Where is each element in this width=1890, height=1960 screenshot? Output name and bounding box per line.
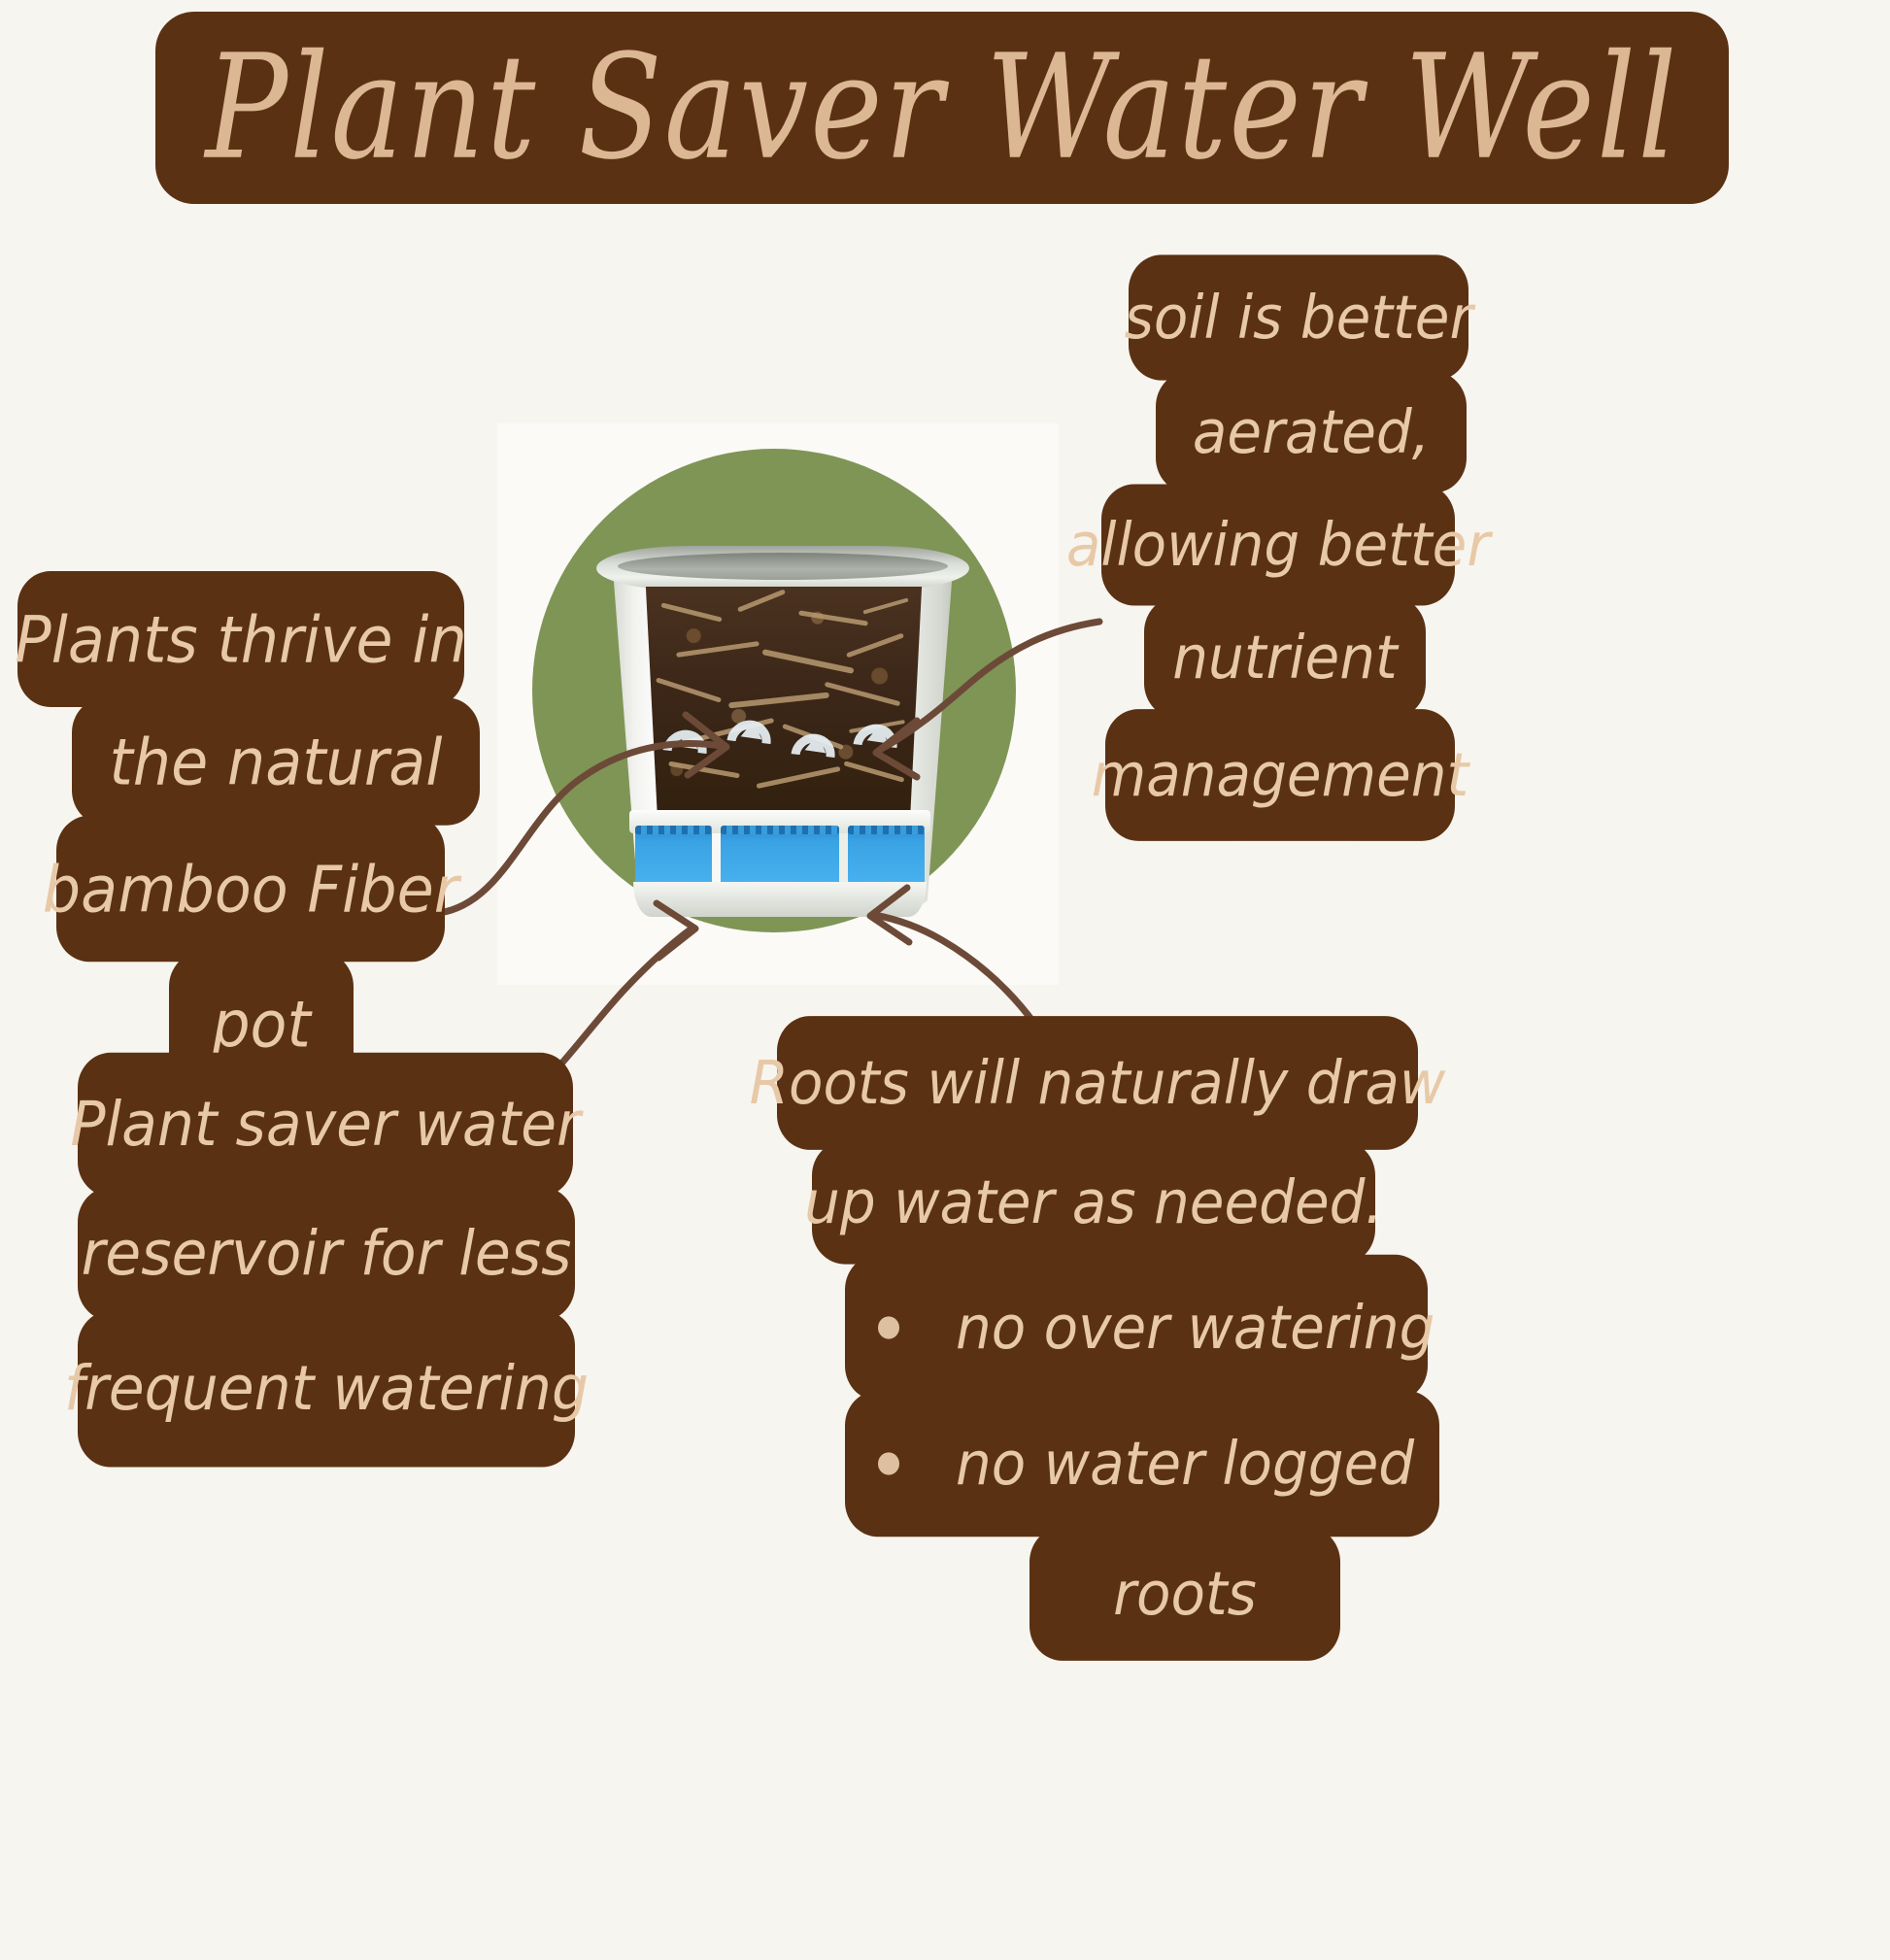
callout-line: the natural [72,697,480,825]
water-cell [635,829,712,886]
soil-aeration-callout: soil is better aerated, allowing better … [1096,258,1468,837]
callout-line: reservoir for less [78,1187,575,1321]
bullet-dot-icon [878,1316,899,1338]
callout-line: frequent watering [78,1310,575,1467]
pot-foot [633,882,927,917]
root-wicking-callout: Roots will naturally draw up water as ne… [777,1020,1439,1657]
page-title: Plant Saver Water Well [205,36,1678,181]
callout-line: up water as needed. [812,1140,1375,1264]
callout-line: soil is better [1129,254,1468,380]
callout-line: management [1105,709,1455,841]
callout-bullet-item: no over watering [845,1255,1428,1402]
callout-bullet-label: no over watering [956,1293,1434,1363]
soil-with-roots [643,587,925,810]
water-reservoir [635,829,925,886]
water-uptake-arrow [654,722,715,783]
water-cell [848,829,925,886]
bamboo-fiber-pot-callout: Plants thrive in the natural bamboo Fibe… [17,575,480,1092]
callout-line: bamboo Fiber [56,816,445,963]
callout-bullet-label: no water logged [956,1429,1414,1499]
title-banner: Plant Saver Water Well [155,12,1729,204]
water-reservoir-callout: Plant saver water reservoir for less fre… [78,1057,575,1463]
pot-rim [596,546,969,591]
callout-line: Plants thrive in [17,571,464,707]
bullet-dot-icon [878,1452,899,1474]
cutaway-plant-pot-photo [596,546,969,917]
callout-bullet-continuation: roots [1029,1527,1340,1661]
callout-line: allowing better [1101,484,1455,605]
callout-bullet-item: no water logged [845,1391,1439,1538]
callout-line: Plant saver water [78,1053,573,1197]
water-cell [721,829,839,886]
infographic-canvas: Plant Saver Water Well [0,0,1890,1960]
callout-line: nutrient [1144,596,1426,718]
callout-line: aerated, [1156,371,1467,492]
callout-line: Roots will naturally draw [777,1016,1418,1150]
pot-rim-inner [618,553,948,580]
